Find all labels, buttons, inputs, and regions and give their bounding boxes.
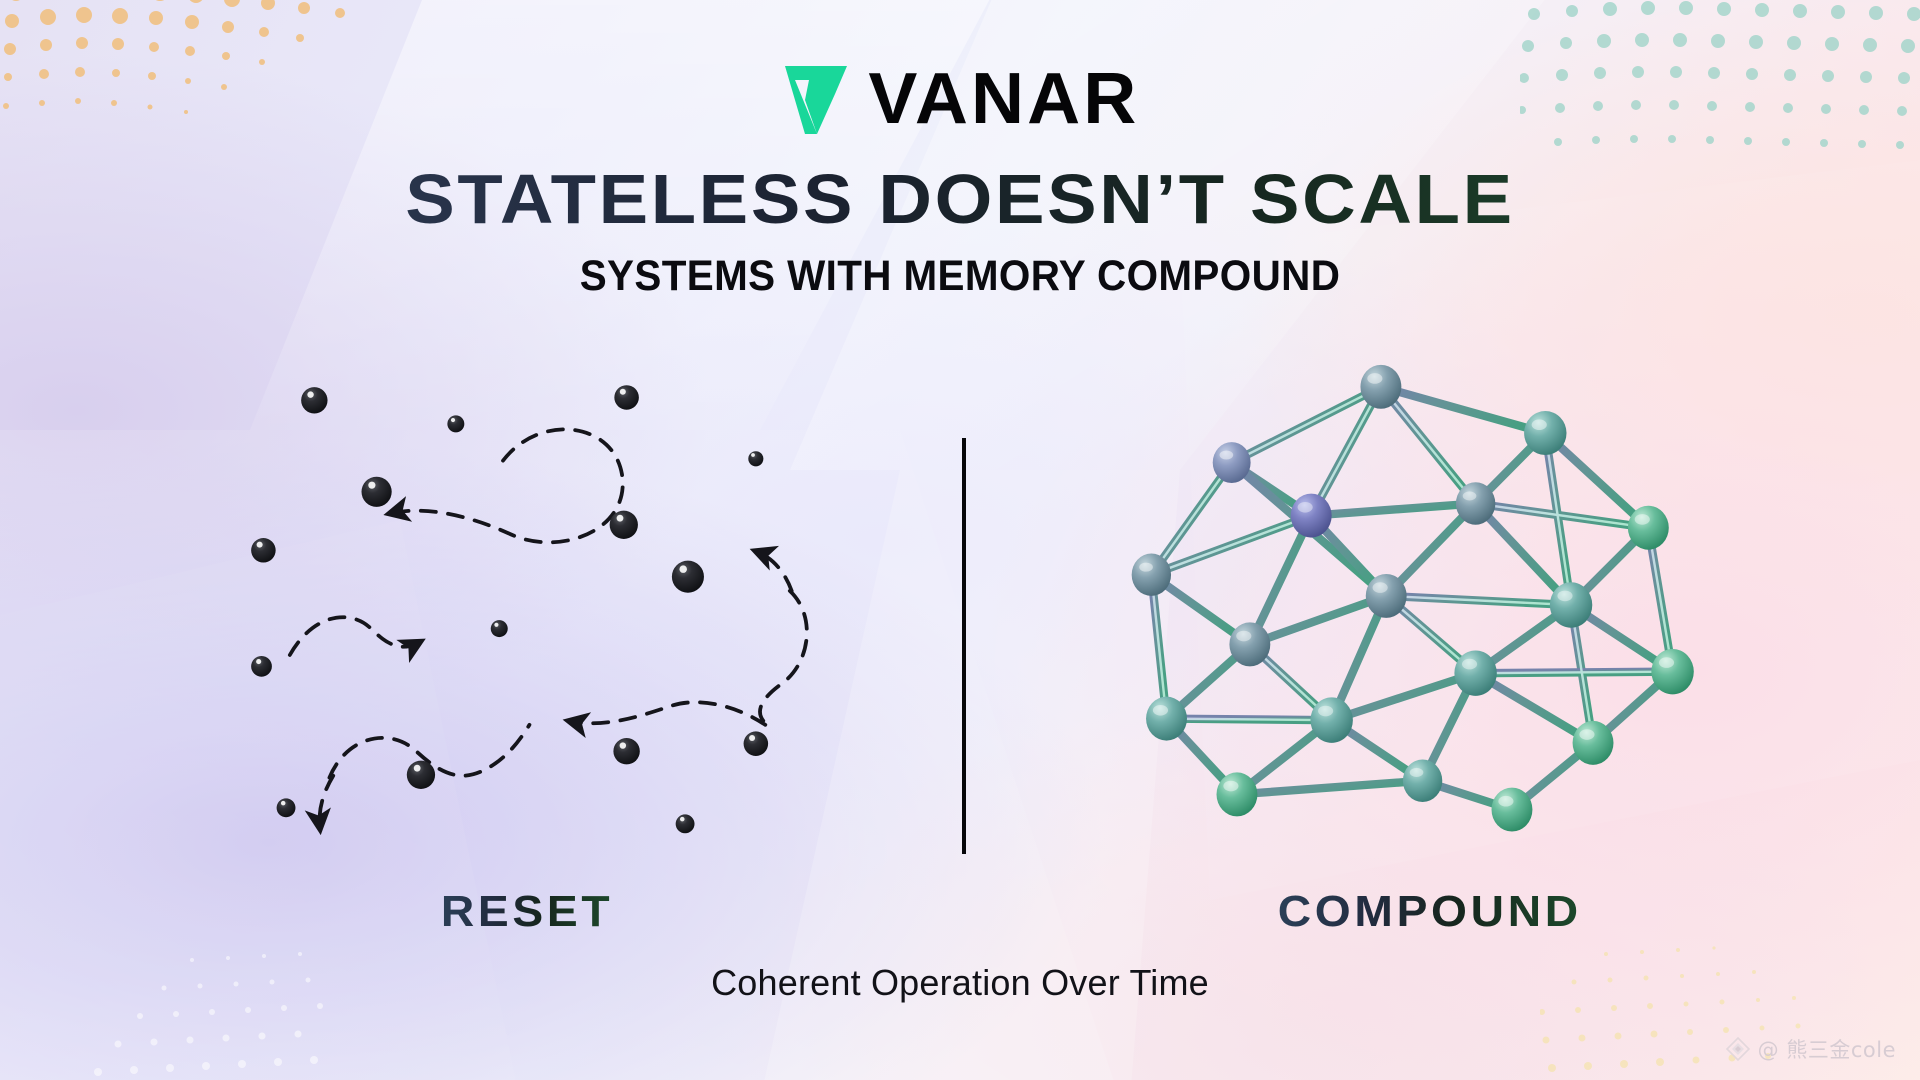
dashed-arrow-down-tail — [320, 776, 334, 829]
poster-canvas: VANAR STATELESS DOESN’T SCALE SYSTEMS WI… — [0, 0, 1920, 1080]
network-node — [1524, 411, 1566, 455]
scattered-dots-diagram — [150, 355, 890, 855]
compound-graphic-panel — [1035, 355, 1795, 855]
dashed-arrow-arc-right-head — [756, 551, 792, 591]
dashed-arrow-sweep-lower-right — [569, 702, 765, 725]
watermark: @ 熊三金cole — [1725, 1034, 1896, 1064]
dashed-arrow-loop-upper — [390, 429, 623, 542]
headline: STATELESS DOESN’T SCALE — [0, 164, 1920, 234]
network-node — [1146, 697, 1187, 741]
network-node — [1366, 574, 1407, 618]
vanar-v-mark-icon — [783, 60, 849, 138]
label-compound: COMPOUND — [1278, 890, 1582, 934]
watermark-handle: @ 熊三金cole — [1758, 1034, 1896, 1064]
brain-network-diagram — [1035, 355, 1795, 855]
footer-caption: Coherent Operation Over Time — [0, 962, 1920, 1004]
network-node — [1217, 772, 1258, 816]
label-reset: RESET — [441, 890, 613, 934]
reset-graphic-panel — [150, 355, 890, 855]
network-node — [1456, 482, 1495, 524]
subheadline: SYSTEMS WITH MEMORY COMPOUND — [58, 252, 1863, 301]
network-node — [1310, 697, 1352, 742]
network-node — [1550, 582, 1592, 627]
brand-name: VANAR — [868, 63, 1139, 135]
network-node — [1360, 365, 1401, 409]
network-node — [1403, 760, 1442, 802]
network-node — [1573, 721, 1614, 765]
network-node — [1492, 788, 1533, 832]
network-node — [1628, 506, 1669, 550]
center-divider — [962, 438, 966, 854]
dashed-arrow-sweep-left — [290, 617, 420, 655]
header: VANAR STATELESS DOESN’T SCALE SYSTEMS WI… — [0, 0, 1920, 301]
network-node — [1454, 650, 1496, 695]
network-node — [1651, 649, 1693, 694]
network-node — [1213, 442, 1251, 483]
dashed-arrow-arc-right — [760, 591, 807, 725]
network-node — [1291, 494, 1332, 538]
diamond-badge-icon — [1725, 1036, 1751, 1062]
network-node — [1229, 622, 1270, 666]
network-node — [1132, 553, 1171, 595]
brand-lockup: VANAR — [0, 0, 1920, 142]
